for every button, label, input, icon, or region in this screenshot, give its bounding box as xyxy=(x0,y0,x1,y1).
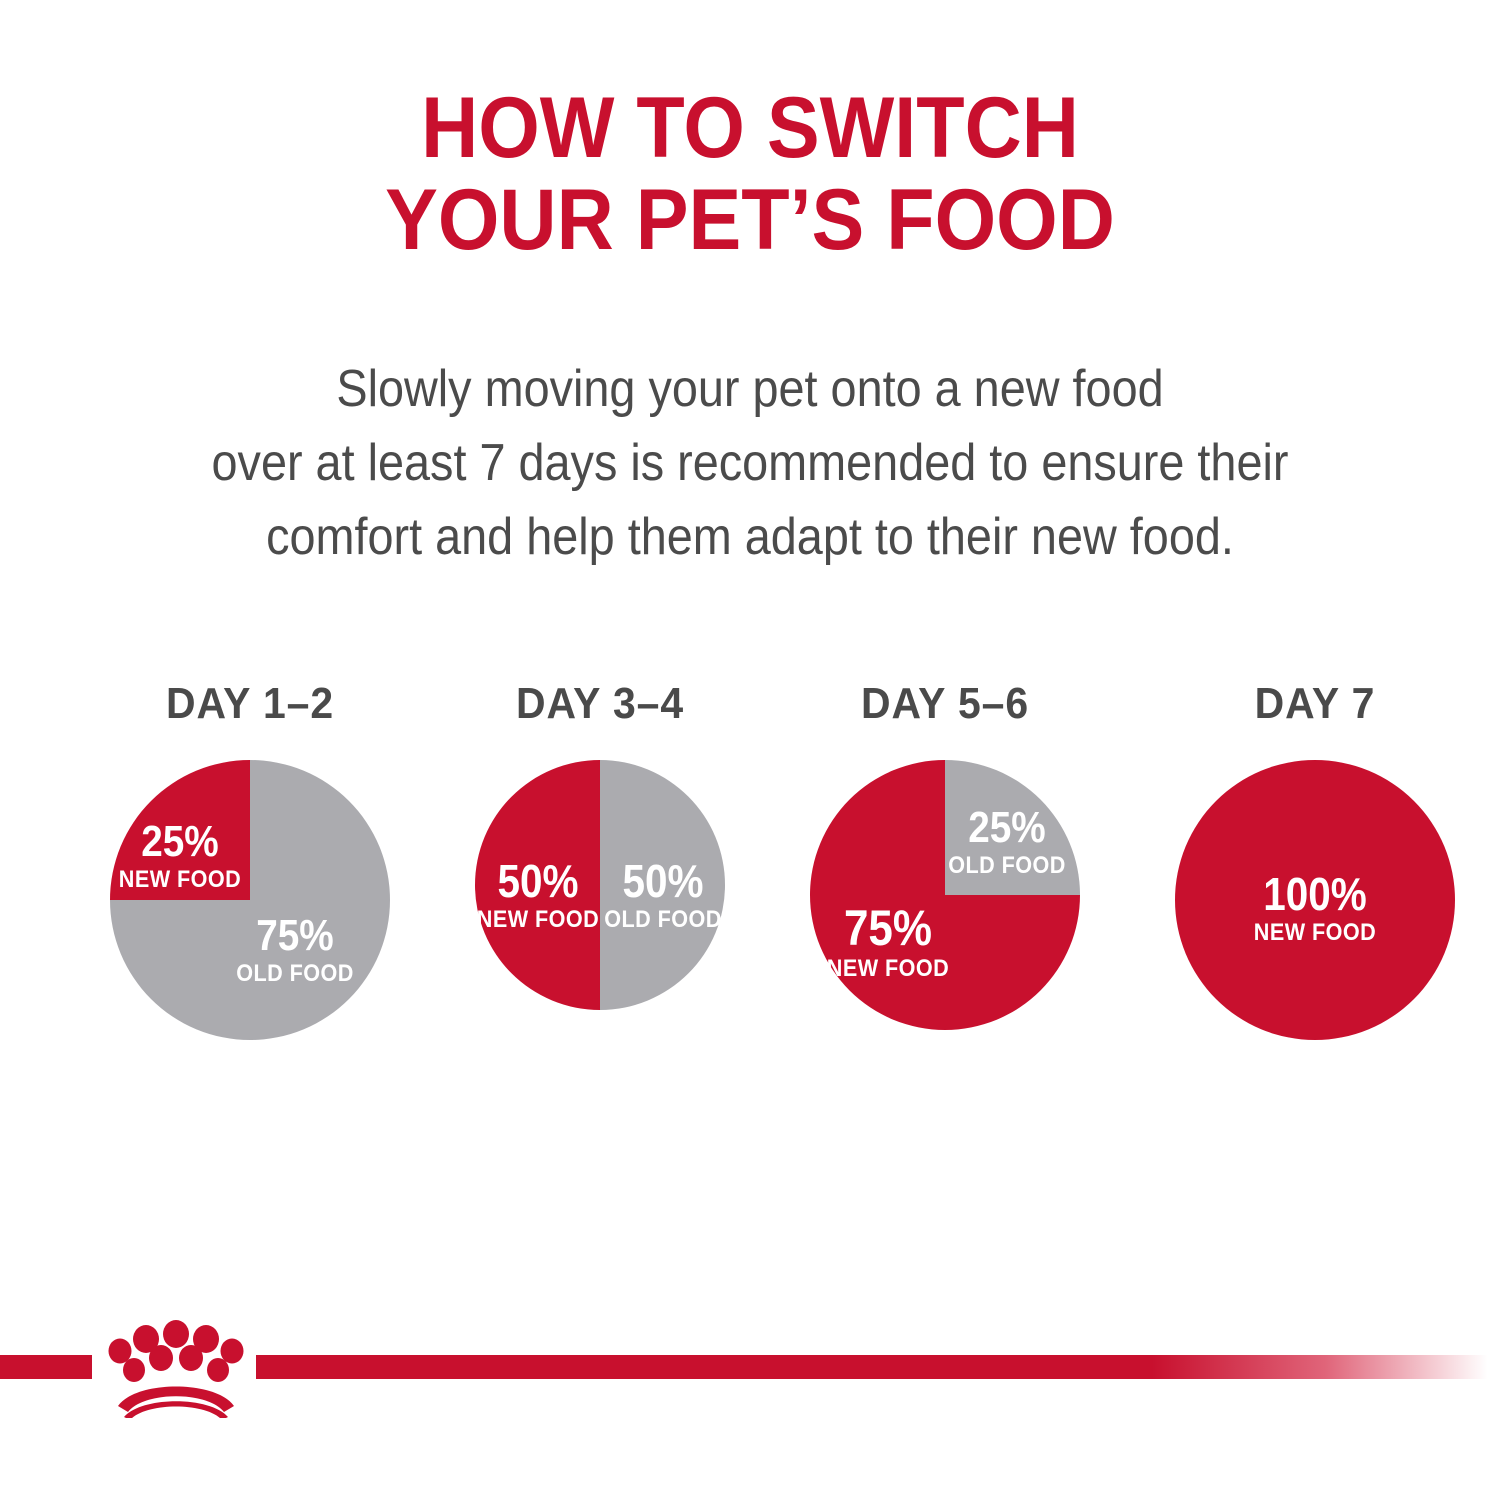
page-title: HOW TO SWITCH YOUR PET’S FOOD xyxy=(0,82,1500,266)
pie-chart-day-7: 100% NEW FOOD xyxy=(1175,760,1455,1040)
pie-chart-day-5-6: 25% OLD FOOD 75% NEW FOOD xyxy=(810,760,1080,1030)
pie-group-day-1-2: DAY 1–2 25% NEW FOOD 75% OLD FOOD xyxy=(110,680,390,1040)
pie-svg-day-7 xyxy=(1175,760,1455,1040)
day-label-1: DAY 1–2 xyxy=(120,680,380,728)
pie-chart-day-3-4: 50% NEW FOOD 50% OLD FOOD xyxy=(475,760,725,1010)
page-title-line-2: YOUR PET’S FOOD xyxy=(60,174,1440,266)
subtitle-line-1: Slowly moving your pet onto a new food xyxy=(75,352,1425,426)
pie-slice-new-food xyxy=(1175,760,1455,1040)
pie-group-day-7: DAY 7 100% NEW FOOD xyxy=(1175,680,1455,1040)
pie-svg-day-5-6 xyxy=(810,760,1080,1030)
royal-canin-crown-logo-icon xyxy=(96,1318,256,1418)
subtitle-line-2: over at least 7 days is recommended to e… xyxy=(75,426,1425,500)
pie-slice-new-food xyxy=(110,760,250,900)
pie-group-day-3-4: DAY 3–4 50% NEW FOOD 50% OLD FOOD xyxy=(475,680,725,1010)
pie-slice-old-food xyxy=(600,760,725,1010)
footer xyxy=(0,1300,1500,1430)
day-label-4: DAY 7 xyxy=(1185,680,1445,728)
pie-svg-day-3-4 xyxy=(475,760,725,1010)
subtitle: Slowly moving your pet onto a new food o… xyxy=(0,352,1500,574)
pie-slice-new-food xyxy=(475,760,600,1010)
day-label-2: DAY 3–4 xyxy=(484,680,717,728)
pie-group-day-5-6: DAY 5–6 25% OLD FOOD 75% NEW FOOD xyxy=(810,680,1080,1030)
pie-svg-day-1-2 xyxy=(110,760,390,1040)
day-label-3: DAY 5–6 xyxy=(819,680,1070,728)
footer-bar-left xyxy=(0,1355,92,1379)
pie-chart-day-1-2: 25% NEW FOOD 75% OLD FOOD xyxy=(110,760,390,1040)
infographic-page: HOW TO SWITCH YOUR PET’S FOOD Slowly mov… xyxy=(0,0,1500,1500)
pie-chart-row: DAY 1–2 25% NEW FOOD 75% OLD FOOD xyxy=(0,680,1500,1080)
footer-bar-right xyxy=(256,1355,1500,1379)
subtitle-line-3: comfort and help them adapt to their new… xyxy=(75,500,1425,574)
page-title-line-1: HOW TO SWITCH xyxy=(60,82,1440,174)
pie-slice-old-food xyxy=(945,760,1080,895)
